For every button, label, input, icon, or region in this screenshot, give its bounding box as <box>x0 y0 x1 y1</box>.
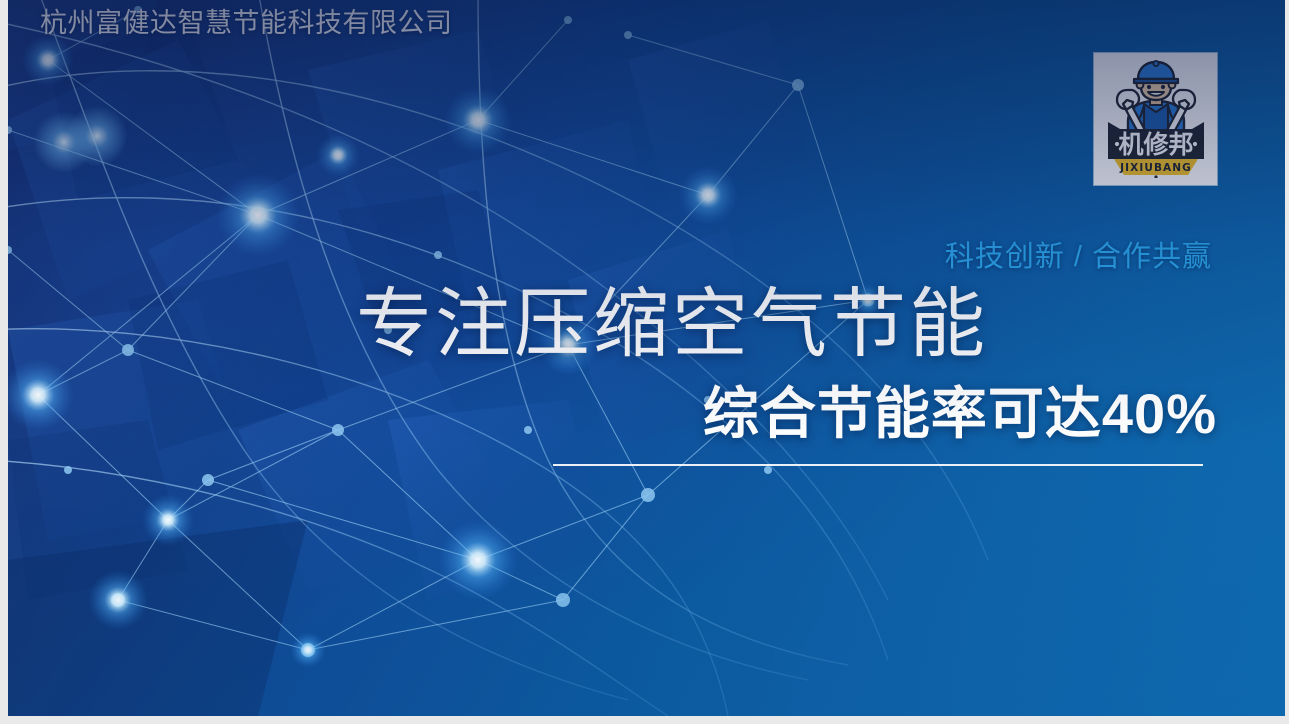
headline-secondary: 综合节能率可达40% <box>703 381 1217 447</box>
company-name: 杭州富健达智慧节能科技有限公司 <box>40 6 453 40</box>
divider-rule <box>553 464 1203 466</box>
logo-card[interactable]: 机修邦 JIXIUBANG mechanic logo <box>1094 53 1217 185</box>
banner-canvas: 杭州富健达智慧节能科技有限公司 科技创新 / 合作共赢 专注压缩空气节能 综合节… <box>0 0 1289 724</box>
logo-brand-cn: 机修邦 <box>1118 130 1193 159</box>
jixiubang-logo-icon: 机修邦 JIXIUBANG mechanic logo <box>1102 60 1210 178</box>
banner-artwork: 杭州富健达智慧节能科技有限公司 科技创新 / 合作共赢 专注压缩空气节能 综合节… <box>8 0 1285 716</box>
tagline: 科技创新 / 合作共赢 <box>945 240 1212 274</box>
logo-brand-pinyin: JIXIUBANG <box>1119 162 1192 174</box>
headline-primary: 专注压缩空气节能 <box>356 283 988 367</box>
